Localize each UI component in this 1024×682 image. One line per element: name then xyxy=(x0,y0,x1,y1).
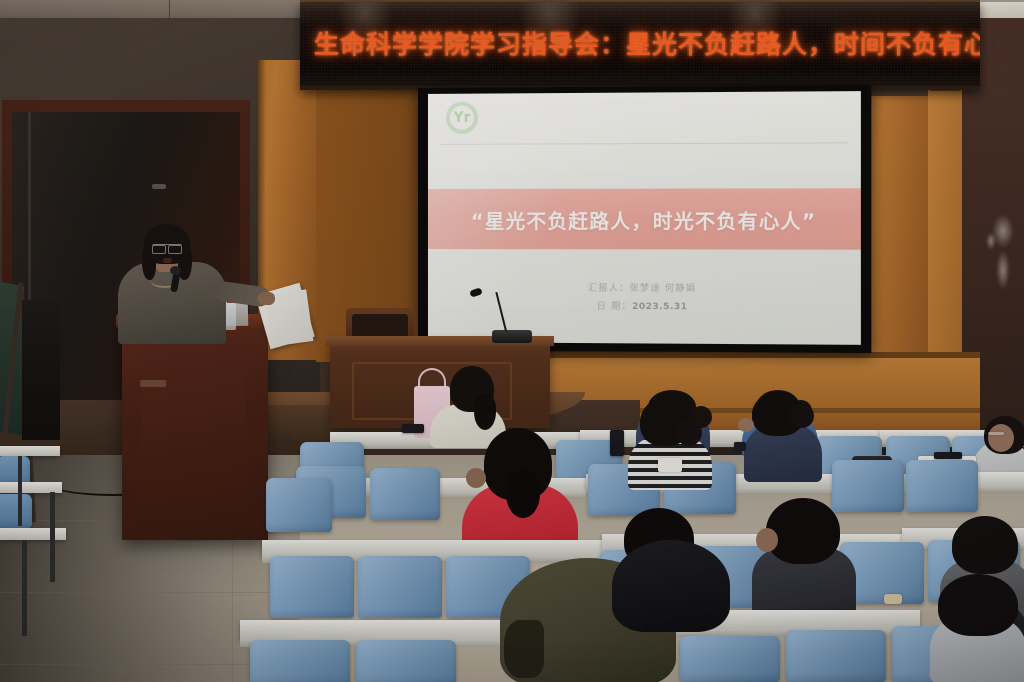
wristwatch xyxy=(734,442,746,451)
water-bottle xyxy=(225,302,236,330)
audience-chair[interactable] xyxy=(270,556,354,618)
slide-date-label: 日 期： xyxy=(597,302,632,312)
ceiling-light-panel xyxy=(976,2,1024,18)
presenter-glasses xyxy=(152,244,182,251)
slide-metadata: 汇报人：张梦迪 何静娟 日 期：2023.5.31 xyxy=(428,279,861,317)
door-handle[interactable] xyxy=(152,184,166,189)
side-chair[interactable] xyxy=(0,494,32,528)
audience-desk xyxy=(262,540,602,557)
audience-chair[interactable] xyxy=(832,460,904,512)
slide-presenter-line: 汇报人：张梦迪 何静娟 xyxy=(428,279,861,299)
phone-held xyxy=(610,430,624,456)
podium-emblem xyxy=(140,380,166,387)
slide-title-text: “星光不负赶路人，时光不负有心人” xyxy=(471,204,817,234)
microphone-base xyxy=(492,330,532,343)
lecture-hall-photo: 生命科学学院学习指导会：星光不负赶路人，时间不负有心人 Yr “星光不负赶路人，… xyxy=(0,0,1024,682)
slide-title-band: “星光不负赶路人，时光不负有心人” xyxy=(428,188,861,249)
projection-screen: Yr “星光不负赶路人，时光不负有心人” 汇报人：张梦迪 何静娟 日 期：202… xyxy=(418,85,871,353)
audience-chair[interactable] xyxy=(250,640,350,682)
audience-chair[interactable] xyxy=(680,636,780,682)
phone-on-desk xyxy=(934,452,962,459)
desk-object xyxy=(884,594,902,604)
audience-chair[interactable] xyxy=(358,556,442,618)
side-desk xyxy=(0,446,60,456)
glasses xyxy=(988,432,1004,435)
side-desk xyxy=(0,528,66,540)
phone-on-desk xyxy=(402,424,424,433)
led-banner: 生命科学学院学习指导会：星光不负赶路人，时间不负有心人 xyxy=(300,2,980,90)
audience-chair[interactable] xyxy=(906,460,978,512)
audience-chair[interactable] xyxy=(356,640,456,682)
slide-divider xyxy=(440,142,848,145)
slide-logo-icon: Yr xyxy=(446,102,478,134)
audience-desk xyxy=(240,620,540,640)
audience-chair[interactable] xyxy=(266,478,332,532)
presenter-hand xyxy=(258,292,275,305)
audience-chair[interactable] xyxy=(370,468,440,520)
slide-date-value: 2023.5.31 xyxy=(632,302,688,312)
led-banner-text: 生命科学学院学习指导会：星光不负赶路人，时间不负有心人 xyxy=(314,24,966,66)
equipment-case xyxy=(22,300,60,440)
slide-surface: Yr “星光不负赶路人，时光不负有心人” 汇报人：张梦迪 何静娟 日 期：202… xyxy=(428,91,861,345)
audience-chair[interactable] xyxy=(786,630,886,682)
name-badge xyxy=(658,458,682,472)
